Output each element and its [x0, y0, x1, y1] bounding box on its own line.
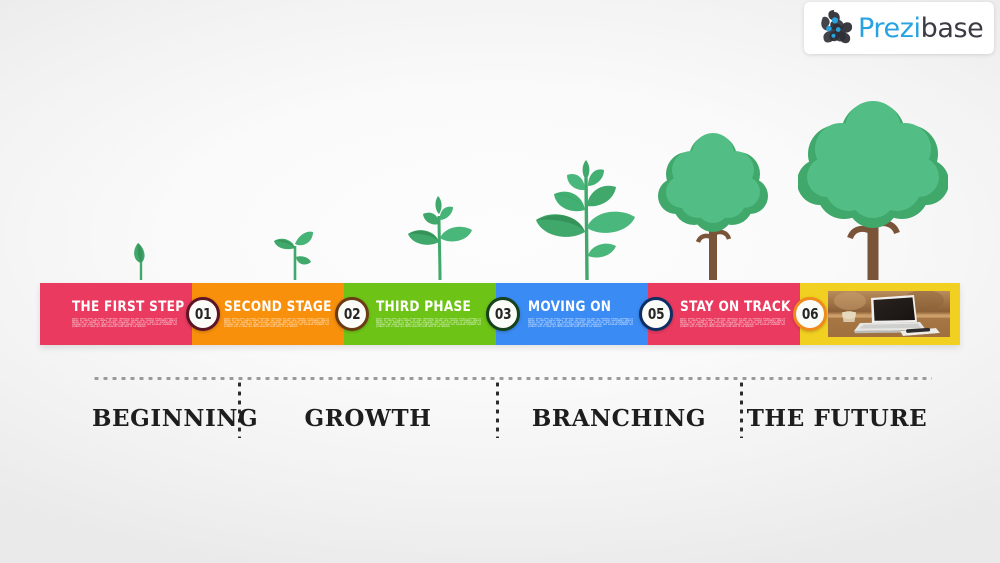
prezibase-logo-text: Prezibase: [858, 13, 983, 44]
small-tree-icon: [658, 130, 768, 285]
stage-badge-1-number: 01: [195, 305, 211, 323]
stage-title-2: SECOND STAGE: [224, 300, 304, 315]
stage-badge-6[interactable]: 06: [793, 297, 827, 331]
stage-title-4: MOVING ON: [528, 300, 608, 315]
laptop-on-wooden-desk-photo: [828, 291, 950, 337]
stage-badge-5-number: 05: [648, 305, 664, 323]
logo-text-base: base: [921, 13, 984, 44]
large-tree-icon: [798, 98, 948, 285]
phase-label-beginning: BEGINNING: [92, 405, 238, 432]
stage-badge-2[interactable]: 02: [335, 297, 369, 331]
stage-badge-2-number: 02: [344, 305, 360, 323]
bushy-plant-icon: [530, 160, 642, 285]
stage-body-5: Lorem ipsum dolor sit amet, consectetur …: [680, 318, 785, 328]
stage-badge-6-number: 06: [802, 305, 818, 323]
stage-panel-1[interactable]: THE FIRST STEP Lorem ipsum dolor sit ame…: [40, 283, 192, 345]
single-leaf-sprout-icon: [124, 238, 158, 285]
infographic-canvas: Prezibase: [0, 0, 1000, 563]
stage-title-5: STAY ON TRACK: [680, 300, 760, 315]
footer-dotted-rule: [92, 377, 932, 380]
stage-badge-3-number: 03: [495, 305, 511, 323]
phase-label-branching: BRANCHING: [498, 405, 740, 432]
stage-body-2: Lorem ipsum dolor sit amet, consectetur …: [224, 318, 329, 328]
stage-body-3: Lorem ipsum dolor sit amet, consectetur …: [376, 318, 481, 328]
prezibase-logo[interactable]: Prezibase: [804, 2, 994, 54]
stage-badge-3[interactable]: 03: [486, 297, 520, 331]
prezibase-pinwheel-logo-icon: [816, 9, 854, 47]
stage-body-1: Lorem ipsum dolor sit amet, consectetur …: [72, 318, 177, 328]
phase-label-growth: GROWTH: [240, 405, 496, 432]
small-seedling-icon: [268, 224, 320, 285]
phase-label-the-future: THE FUTURE: [742, 405, 932, 432]
stage-title-1: THE FIRST STEP: [72, 300, 152, 315]
stage-badge-5[interactable]: 05: [639, 297, 673, 331]
young-plant-icon: [402, 194, 478, 285]
logo-text-prezi: Prezi: [858, 13, 921, 44]
stage-title-3: THIRD PHASE: [376, 300, 456, 315]
growth-illustrations: [40, 90, 960, 285]
stage-body-4: Lorem ipsum dolor sit amet, consectetur …: [528, 318, 633, 328]
stage-badge-1[interactable]: 01: [186, 297, 220, 331]
